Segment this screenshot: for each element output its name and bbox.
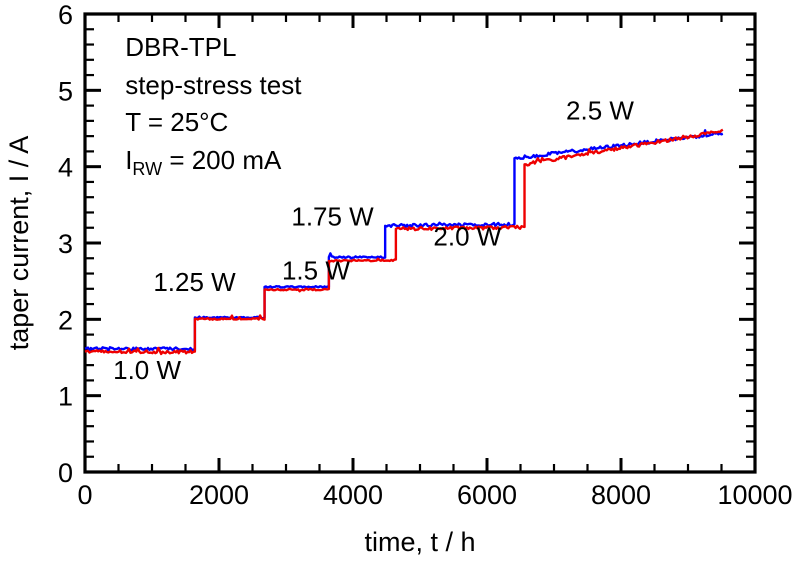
x-tick-label: 10000	[717, 480, 792, 510]
y-tick-label: 1	[58, 382, 73, 412]
y-tick-label: 2	[58, 305, 73, 335]
chart-canvas: 0200040006000800010000 0123456 time, t /…	[0, 0, 800, 564]
x-tick-label: 4000	[323, 480, 383, 510]
x-axis-title: time, t / h	[364, 527, 475, 557]
step-label-1p0W: 1.0 W	[113, 355, 181, 385]
y-tick-label: 3	[58, 229, 73, 259]
chart-background	[0, 0, 800, 564]
x-tick-label: 6000	[457, 480, 517, 510]
temperature-label: T = 25°C	[125, 107, 228, 137]
test-label: step-stress test	[125, 70, 302, 100]
y-tick-label: 5	[58, 76, 73, 106]
step-label-1p75W: 1.75 W	[291, 201, 374, 231]
y-tick-label: 6	[58, 0, 73, 30]
step-label-1p5W: 1.5 W	[282, 256, 350, 286]
x-tick-label: 2000	[189, 480, 249, 510]
device-label: DBR-TPL	[125, 32, 236, 62]
chart-figure: 0200040006000800010000 0123456 time, t /…	[0, 0, 800, 564]
y-axis-title: taper current, I / A	[4, 136, 34, 351]
step-label-2p0W: 2.0 W	[433, 221, 501, 251]
step-label-2p5W: 2.5 W	[566, 95, 634, 125]
y-tick-label: 4	[58, 153, 73, 183]
x-tick-label: 8000	[591, 480, 651, 510]
step-label-1p25W: 1.25 W	[153, 267, 236, 297]
x-tick-label: 0	[77, 480, 92, 510]
y-tick-label: 0	[58, 458, 73, 488]
